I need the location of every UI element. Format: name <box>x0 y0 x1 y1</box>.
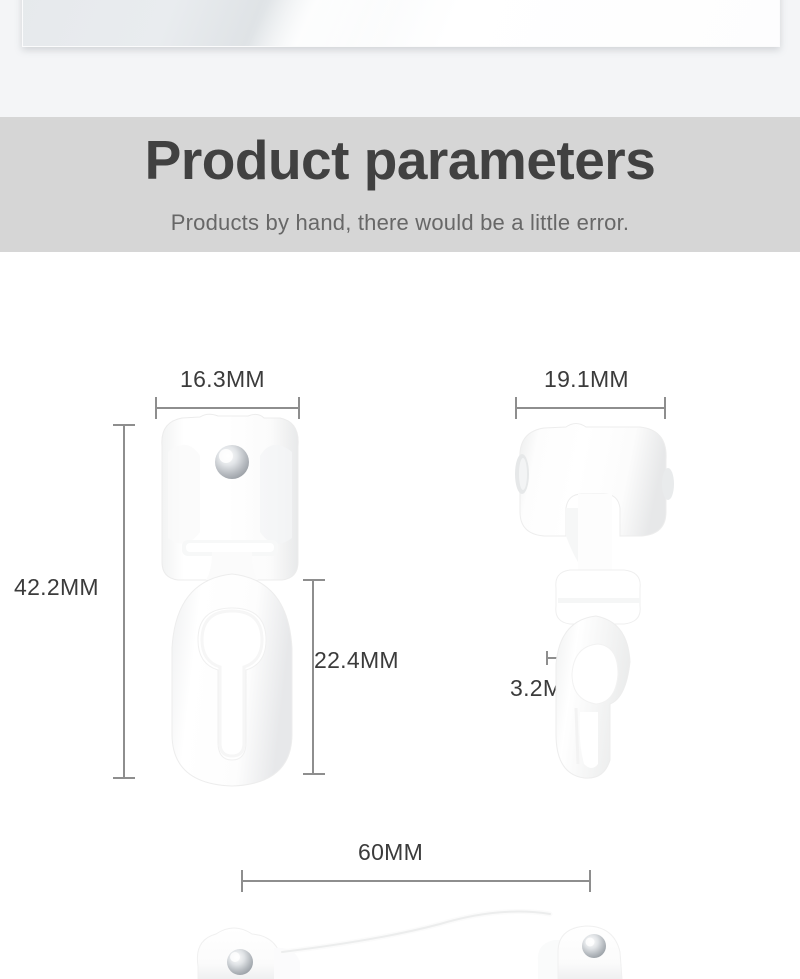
previous-image-strip <box>0 0 800 117</box>
hook-front-view <box>140 412 320 792</box>
dim-line-height-total <box>123 424 125 779</box>
dim-label-spacing-pair: 60MM <box>358 839 423 866</box>
photo-gloss-highlight <box>23 0 779 46</box>
dim-label-height-total: 42.2MM <box>14 574 99 601</box>
previous-product-photo <box>22 0 780 47</box>
dim-line-spacing-pair <box>241 880 591 882</box>
section-banner: Product parameters Products by hand, the… <box>0 117 800 252</box>
dimension-diagram: 16.3MM 42.2MM 22.4MM <box>0 252 800 979</box>
dim-line-width-side <box>515 407 666 409</box>
page-subtitle: Products by hand, there would be a littl… <box>0 210 800 236</box>
page-title: Product parameters <box>0 132 800 190</box>
dim-label-height-hook: 22.4MM <box>314 647 399 674</box>
dim-label-width-front: 16.3MM <box>180 366 265 393</box>
product-parameters-page: Product parameters Products by hand, the… <box>0 0 800 979</box>
hook-side-view <box>500 412 690 792</box>
dim-line-width-front <box>155 407 300 409</box>
dim-label-width-side: 19.1MM <box>544 366 629 393</box>
hook-pair-view <box>190 900 630 979</box>
